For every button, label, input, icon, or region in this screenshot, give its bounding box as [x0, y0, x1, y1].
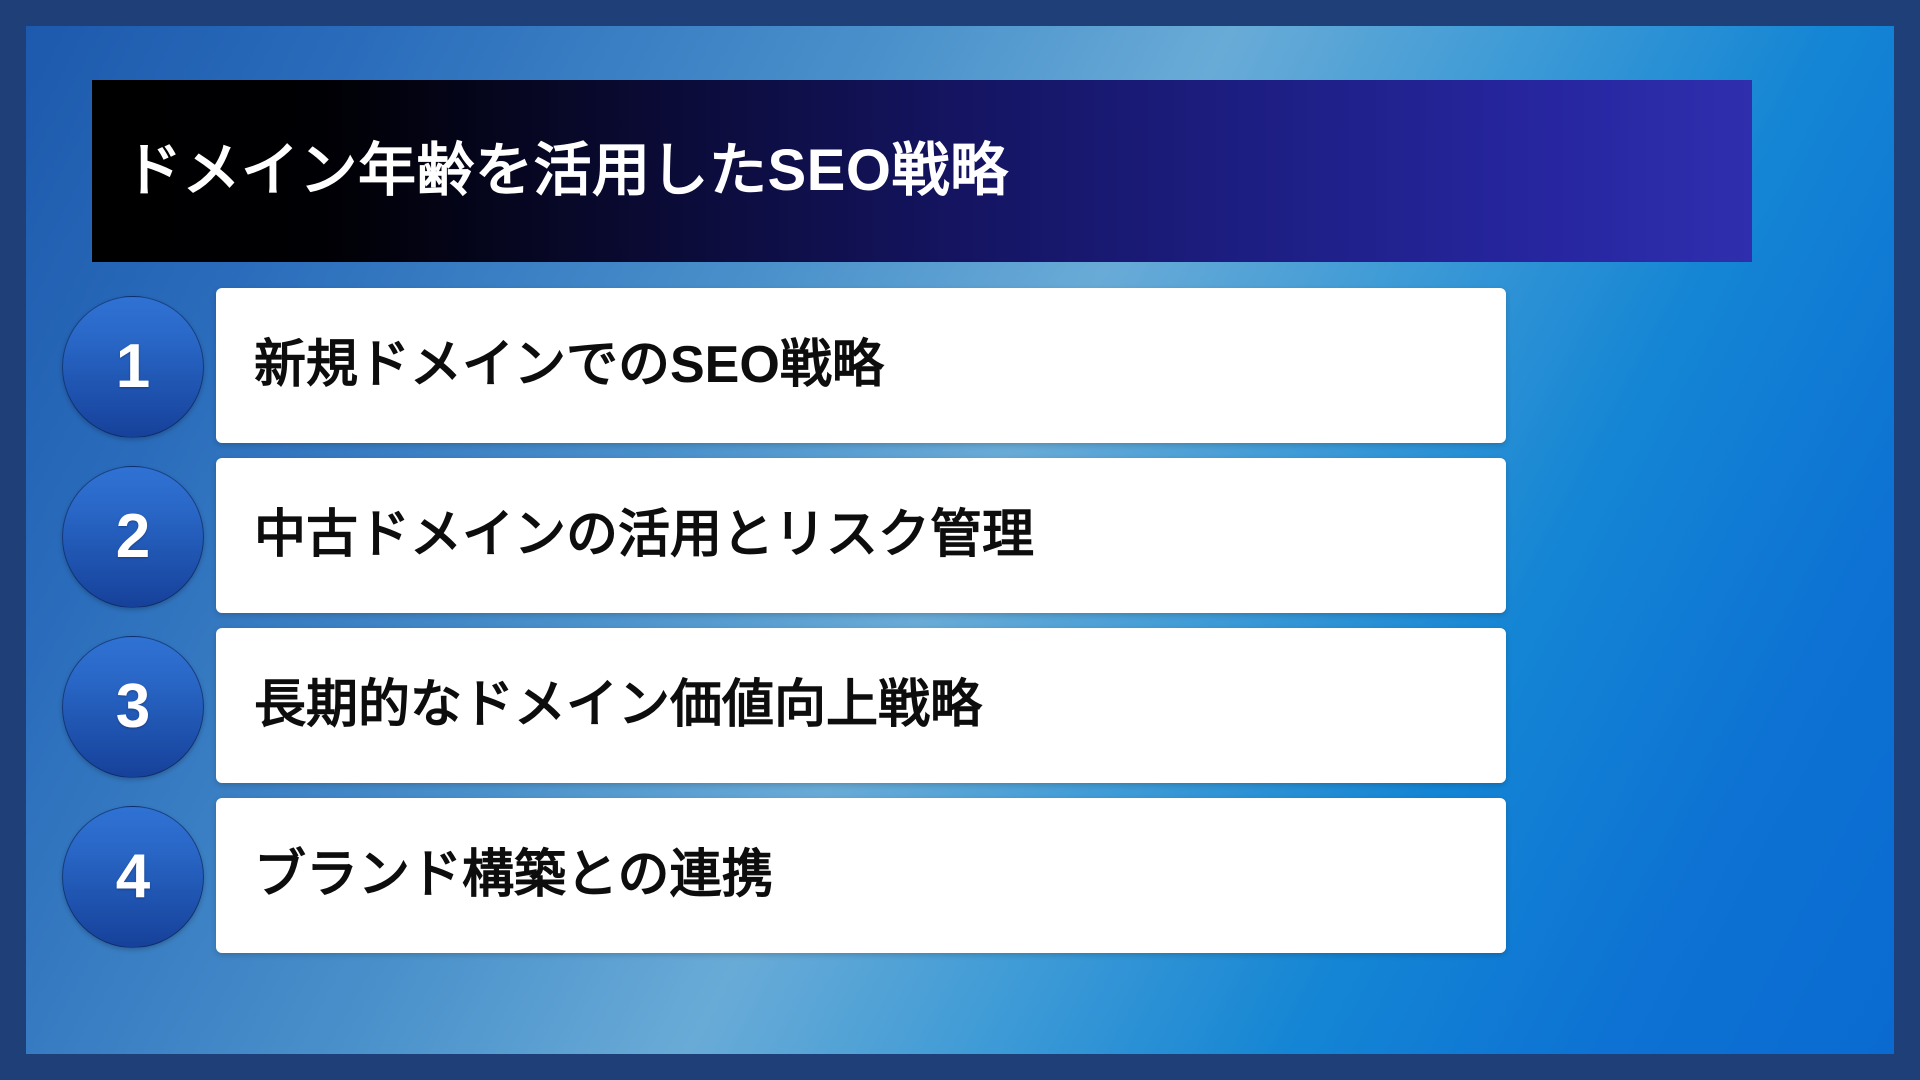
list-item-number-badge: 4 [62, 806, 204, 948]
list-item-number: 1 [116, 336, 150, 398]
list-item-number-badge: 3 [62, 636, 204, 778]
list-item-label: 中古ドメインの活用とリスク管理 [216, 506, 1034, 566]
list-item-card[interactable]: 長期的なドメイン価値向上戦略 [216, 628, 1506, 783]
list-item-card[interactable]: 新規ドメインでのSEO戦略 [216, 288, 1506, 443]
list-item[interactable]: 3 長期的なドメイン価値向上戦略 [26, 628, 1894, 798]
list-item-number: 2 [116, 506, 150, 568]
list-item-number-badge: 1 [62, 296, 204, 438]
list-item[interactable]: 2 中古ドメインの活用とリスク管理 [26, 458, 1894, 628]
list-item-card[interactable]: 中古ドメインの活用とリスク管理 [216, 458, 1506, 613]
list-item-number: 3 [116, 676, 150, 738]
slide-root: ドメイン年齢を活用したSEO戦略 1 新規ドメインでのSEO戦略 2 中古ドメイ… [0, 0, 1920, 1080]
slide-panel: ドメイン年齢を活用したSEO戦略 1 新規ドメインでのSEO戦略 2 中古ドメイ… [26, 26, 1894, 1054]
list-item[interactable]: 4 ブランド構築との連携 [26, 798, 1894, 968]
list-item-label: 新規ドメインでのSEO戦略 [216, 336, 884, 396]
list-item-number: 4 [116, 846, 150, 908]
list-item-card[interactable]: ブランド構築との連携 [216, 798, 1506, 953]
list-item-label: 長期的なドメイン価値向上戦略 [216, 676, 982, 736]
list-item-number-badge: 2 [62, 466, 204, 608]
list-item[interactable]: 1 新規ドメインでのSEO戦略 [26, 288, 1894, 458]
list-item-label: ブランド構築との連携 [216, 846, 773, 906]
numbered-list: 1 新規ドメインでのSEO戦略 2 中古ドメインの活用とリスク管理 3 [26, 288, 1894, 968]
slide-title: ドメイン年齢を活用したSEO戦略 [92, 139, 1009, 203]
title-bar: ドメイン年齢を活用したSEO戦略 [92, 80, 1752, 262]
